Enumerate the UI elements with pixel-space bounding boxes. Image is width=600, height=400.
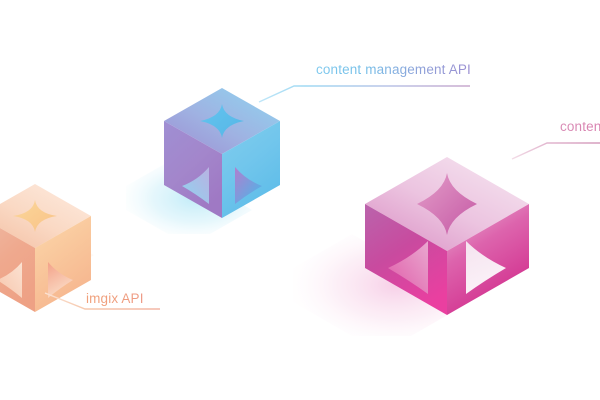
cms-cube: [126, 88, 280, 234]
label-content-management-api: content management API: [316, 62, 471, 77]
cms-leader-line: [259, 86, 470, 102]
label-content-clipped: content: [560, 119, 600, 134]
illustration-canvas: [0, 0, 600, 400]
label-imgix-api: imgix API: [86, 291, 144, 306]
right-leader-line: [512, 143, 600, 159]
imgix-cube: [0, 184, 94, 312]
content-cube: [293, 157, 529, 336]
